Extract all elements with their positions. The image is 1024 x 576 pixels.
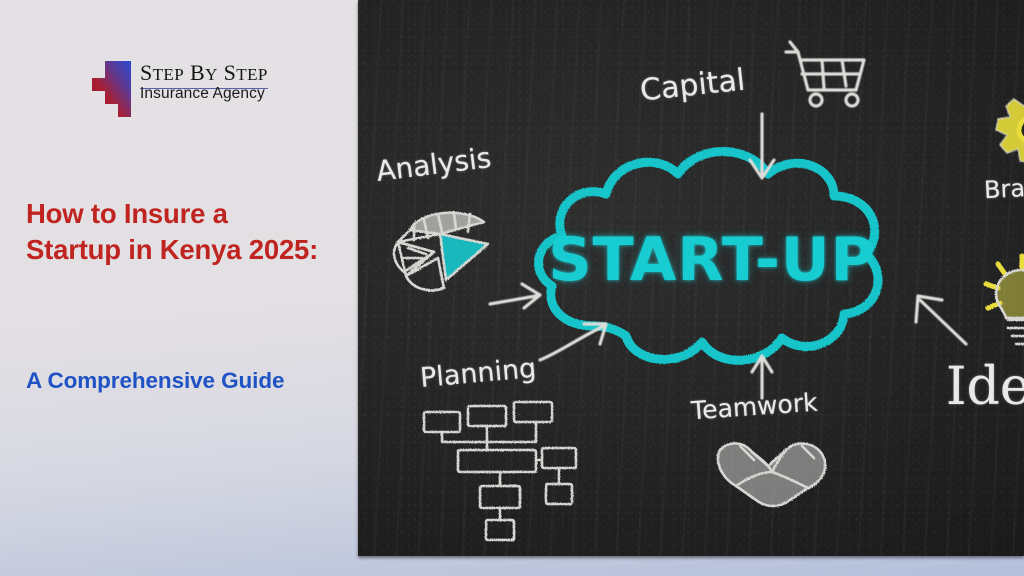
page-subtitle: A Comprehensive Guide	[26, 366, 326, 396]
label-planning: Planning	[419, 353, 538, 394]
shopping-cart-icon	[782, 38, 870, 112]
brand-wordmark: STEP BY STEP Insurance Agency	[140, 60, 358, 103]
arrow-right-analysis	[486, 282, 550, 322]
brand-logo: STEP BY STEP Insurance Agency	[86, 60, 358, 118]
flowchart-icon	[416, 398, 586, 548]
arrow-down-capital	[744, 112, 780, 186]
lightbulb-icon	[974, 250, 1024, 354]
label-capital: Capital	[638, 63, 746, 109]
label-analysis: Analysis	[374, 141, 493, 188]
step-staircase-mark	[86, 60, 132, 118]
page-title: How to Insure a Startup in Kenya 2025:	[26, 196, 326, 268]
handshake-icon	[710, 424, 842, 520]
arrow-up-left-idea	[910, 292, 974, 352]
slide-canvas: STEP BY STEP Insurance Agency How to Ins…	[0, 0, 1024, 576]
left-text-panel: STEP BY STEP Insurance Agency How to Ins…	[0, 0, 358, 576]
brand-name-secondary: Insurance Agency	[140, 85, 265, 102]
chalkboard-photo: START-UP Capital Analysis	[358, 0, 1024, 556]
arrow-up-right-planning	[536, 318, 616, 372]
label-idea: Ide	[946, 357, 1024, 417]
gear-icon	[990, 96, 1024, 186]
arrow-up-teamwork	[744, 354, 780, 402]
